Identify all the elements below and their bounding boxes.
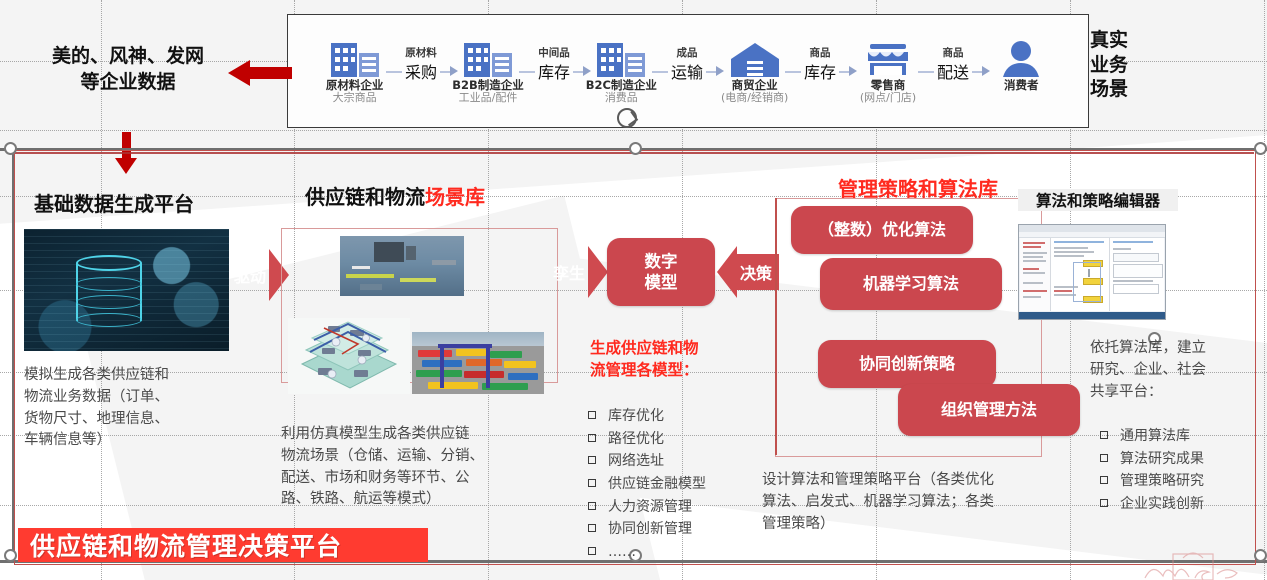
checkbox-icon xyxy=(1100,476,1108,484)
model-bullet-list: 库存优化 路径优化 网络选址 供应链金融模型 人力资源管理 协同创新管理 …… xyxy=(588,405,706,564)
scene-library-title-plain: 供应链和物流 xyxy=(305,185,425,209)
list-item: 供应链金融模型 xyxy=(588,473,706,496)
database-network-image xyxy=(24,229,229,351)
flow-stage-label: 配送 xyxy=(934,59,972,83)
algorithm-card-optimization: （整数）优化算法 xyxy=(791,206,973,254)
flow-node-sub: 消费品 xyxy=(605,92,638,105)
list-item: …… xyxy=(588,541,706,564)
checkbox-icon xyxy=(588,502,596,510)
factory-building-icon xyxy=(462,33,514,77)
model-list-subtitle: 生成供应链和物 流管理各模型： xyxy=(590,338,750,381)
drive-arrow: 驱动 xyxy=(227,249,289,301)
platform-banner-label: 供应链和物流管理决策平台 xyxy=(30,527,342,563)
algorithm-card-collaborative-innovation: 协同创新策略 xyxy=(818,340,996,388)
database-cylinder-icon xyxy=(76,255,142,327)
algorithm-card-organization-management: 组织管理方法 xyxy=(898,384,1080,436)
digital-model-box: 数字 模型 xyxy=(607,238,715,306)
scene-library-caption: 利用仿真模型生成各类供应链 物流场景（仓储、运输、分销、 配送、市场和财务等环节… xyxy=(281,424,549,511)
factory-building-icon xyxy=(595,33,647,77)
editor-title: 算法和策略编辑器 xyxy=(1018,189,1178,211)
twin-arrow-label: 孪生 xyxy=(546,246,592,298)
flow-arrow-label: 成品 xyxy=(677,45,698,60)
list-item: 算法研究成果 xyxy=(1100,448,1204,471)
editor-caption: 依托算法库，建立 研究、企业、社会 共享平台： xyxy=(1090,338,1262,403)
flow-arrow-label: 商品 xyxy=(810,45,831,60)
warehouse-icon xyxy=(729,33,781,77)
list-item: 网络选址 xyxy=(588,450,706,473)
flow-node-sub: 大宗商品 xyxy=(333,92,377,105)
flow-node-sub: 工业品/配件 xyxy=(459,92,518,105)
refresh-icon[interactable] xyxy=(617,108,637,128)
algorithm-card-machine-learning: 机器学习算法 xyxy=(820,258,1002,310)
scene-library-title: 供应链和物流场景库 xyxy=(305,181,485,210)
checkbox-icon xyxy=(588,524,596,532)
base-data-platform-caption: 模拟生成各类供应链和 物流业务数据（订单、 货物尺寸、地理信息、 车辆信息等） xyxy=(24,365,239,452)
list-item: 人力资源管理 xyxy=(588,496,706,519)
list-item: 协同创新管理 xyxy=(588,518,706,541)
algorithm-editor-screenshot xyxy=(1018,224,1166,320)
selection-handle[interactable] xyxy=(4,142,17,155)
selection-handle[interactable] xyxy=(4,549,17,562)
flow-stage-label: 库存 xyxy=(535,59,573,83)
checkbox-icon xyxy=(588,411,596,419)
checkbox-icon xyxy=(588,479,596,487)
business-flow-diagram: 原材料企业 大宗商品 B2B制造企业 工业品/配件 B2C制造企业 消费品 商贸… xyxy=(287,14,1089,128)
checkbox-icon xyxy=(588,547,596,555)
list-item: 管理策略研究 xyxy=(1100,470,1204,493)
editor-bullet-list: 通用算法库 算法研究成果 管理策略研究 企业实践创新 xyxy=(1100,425,1204,516)
checkbox-icon xyxy=(1100,431,1108,439)
list-item: 库存优化 xyxy=(588,405,706,428)
checkbox-icon xyxy=(1100,454,1108,462)
flow-node-name: 消费者 xyxy=(1004,79,1039,92)
selection-handle[interactable] xyxy=(629,142,642,155)
flow-arrow-label: 商品 xyxy=(943,45,964,60)
platform-banner: 供应链和物流管理决策平台 xyxy=(18,528,428,562)
checkbox-icon xyxy=(1100,499,1108,507)
list-item: 企业实践创新 xyxy=(1100,493,1204,516)
real-business-scene-label: 真实 业务 场景 xyxy=(1090,28,1128,102)
decision-arrow-label: 决策 xyxy=(733,246,779,298)
flow-stage-label: 运输 xyxy=(668,59,706,83)
list-item: 路径优化 xyxy=(588,428,706,451)
algorithm-library-caption: 设计算法和管理策略平台（各类优化 算法、启发式、机器学习算法；各类 管理策略） xyxy=(762,470,1092,535)
left-pointing-arrow-icon xyxy=(228,60,292,86)
flow-arrow-label: 中间品 xyxy=(538,45,570,60)
algorithm-library-left-edge xyxy=(775,198,777,455)
flow-node-sub: (网点/门店) xyxy=(860,92,916,105)
person-icon xyxy=(995,33,1047,77)
flow-stage-label: 采购 xyxy=(402,59,440,83)
container-yard-image xyxy=(412,332,544,394)
factory-building-icon xyxy=(329,33,381,77)
drive-arrow-label: 驱动 xyxy=(227,249,273,301)
enterprise-data-label: 美的、风神、发网 等企业数据 xyxy=(28,44,228,95)
flow-arrow-label: 原材料 xyxy=(405,45,437,60)
base-data-platform-title: 基础数据生成平台 xyxy=(34,188,194,217)
plant-layout-image xyxy=(288,318,410,394)
decorative-doodle xyxy=(1143,534,1263,580)
flow-stage-label: 库存 xyxy=(801,59,839,83)
store-icon xyxy=(862,33,914,77)
twin-arrow: 孪生 xyxy=(546,246,608,298)
decision-arrow: 决策 xyxy=(717,246,779,298)
flow-node-sub: (电商/经销商) xyxy=(721,92,788,105)
port-scene-image xyxy=(340,236,464,296)
selection-handle[interactable] xyxy=(1254,142,1267,155)
list-item: 通用算法库 xyxy=(1100,425,1204,448)
checkbox-icon xyxy=(588,456,596,464)
checkbox-icon xyxy=(588,434,596,442)
scene-library-title-highlight: 场景库 xyxy=(425,185,485,209)
